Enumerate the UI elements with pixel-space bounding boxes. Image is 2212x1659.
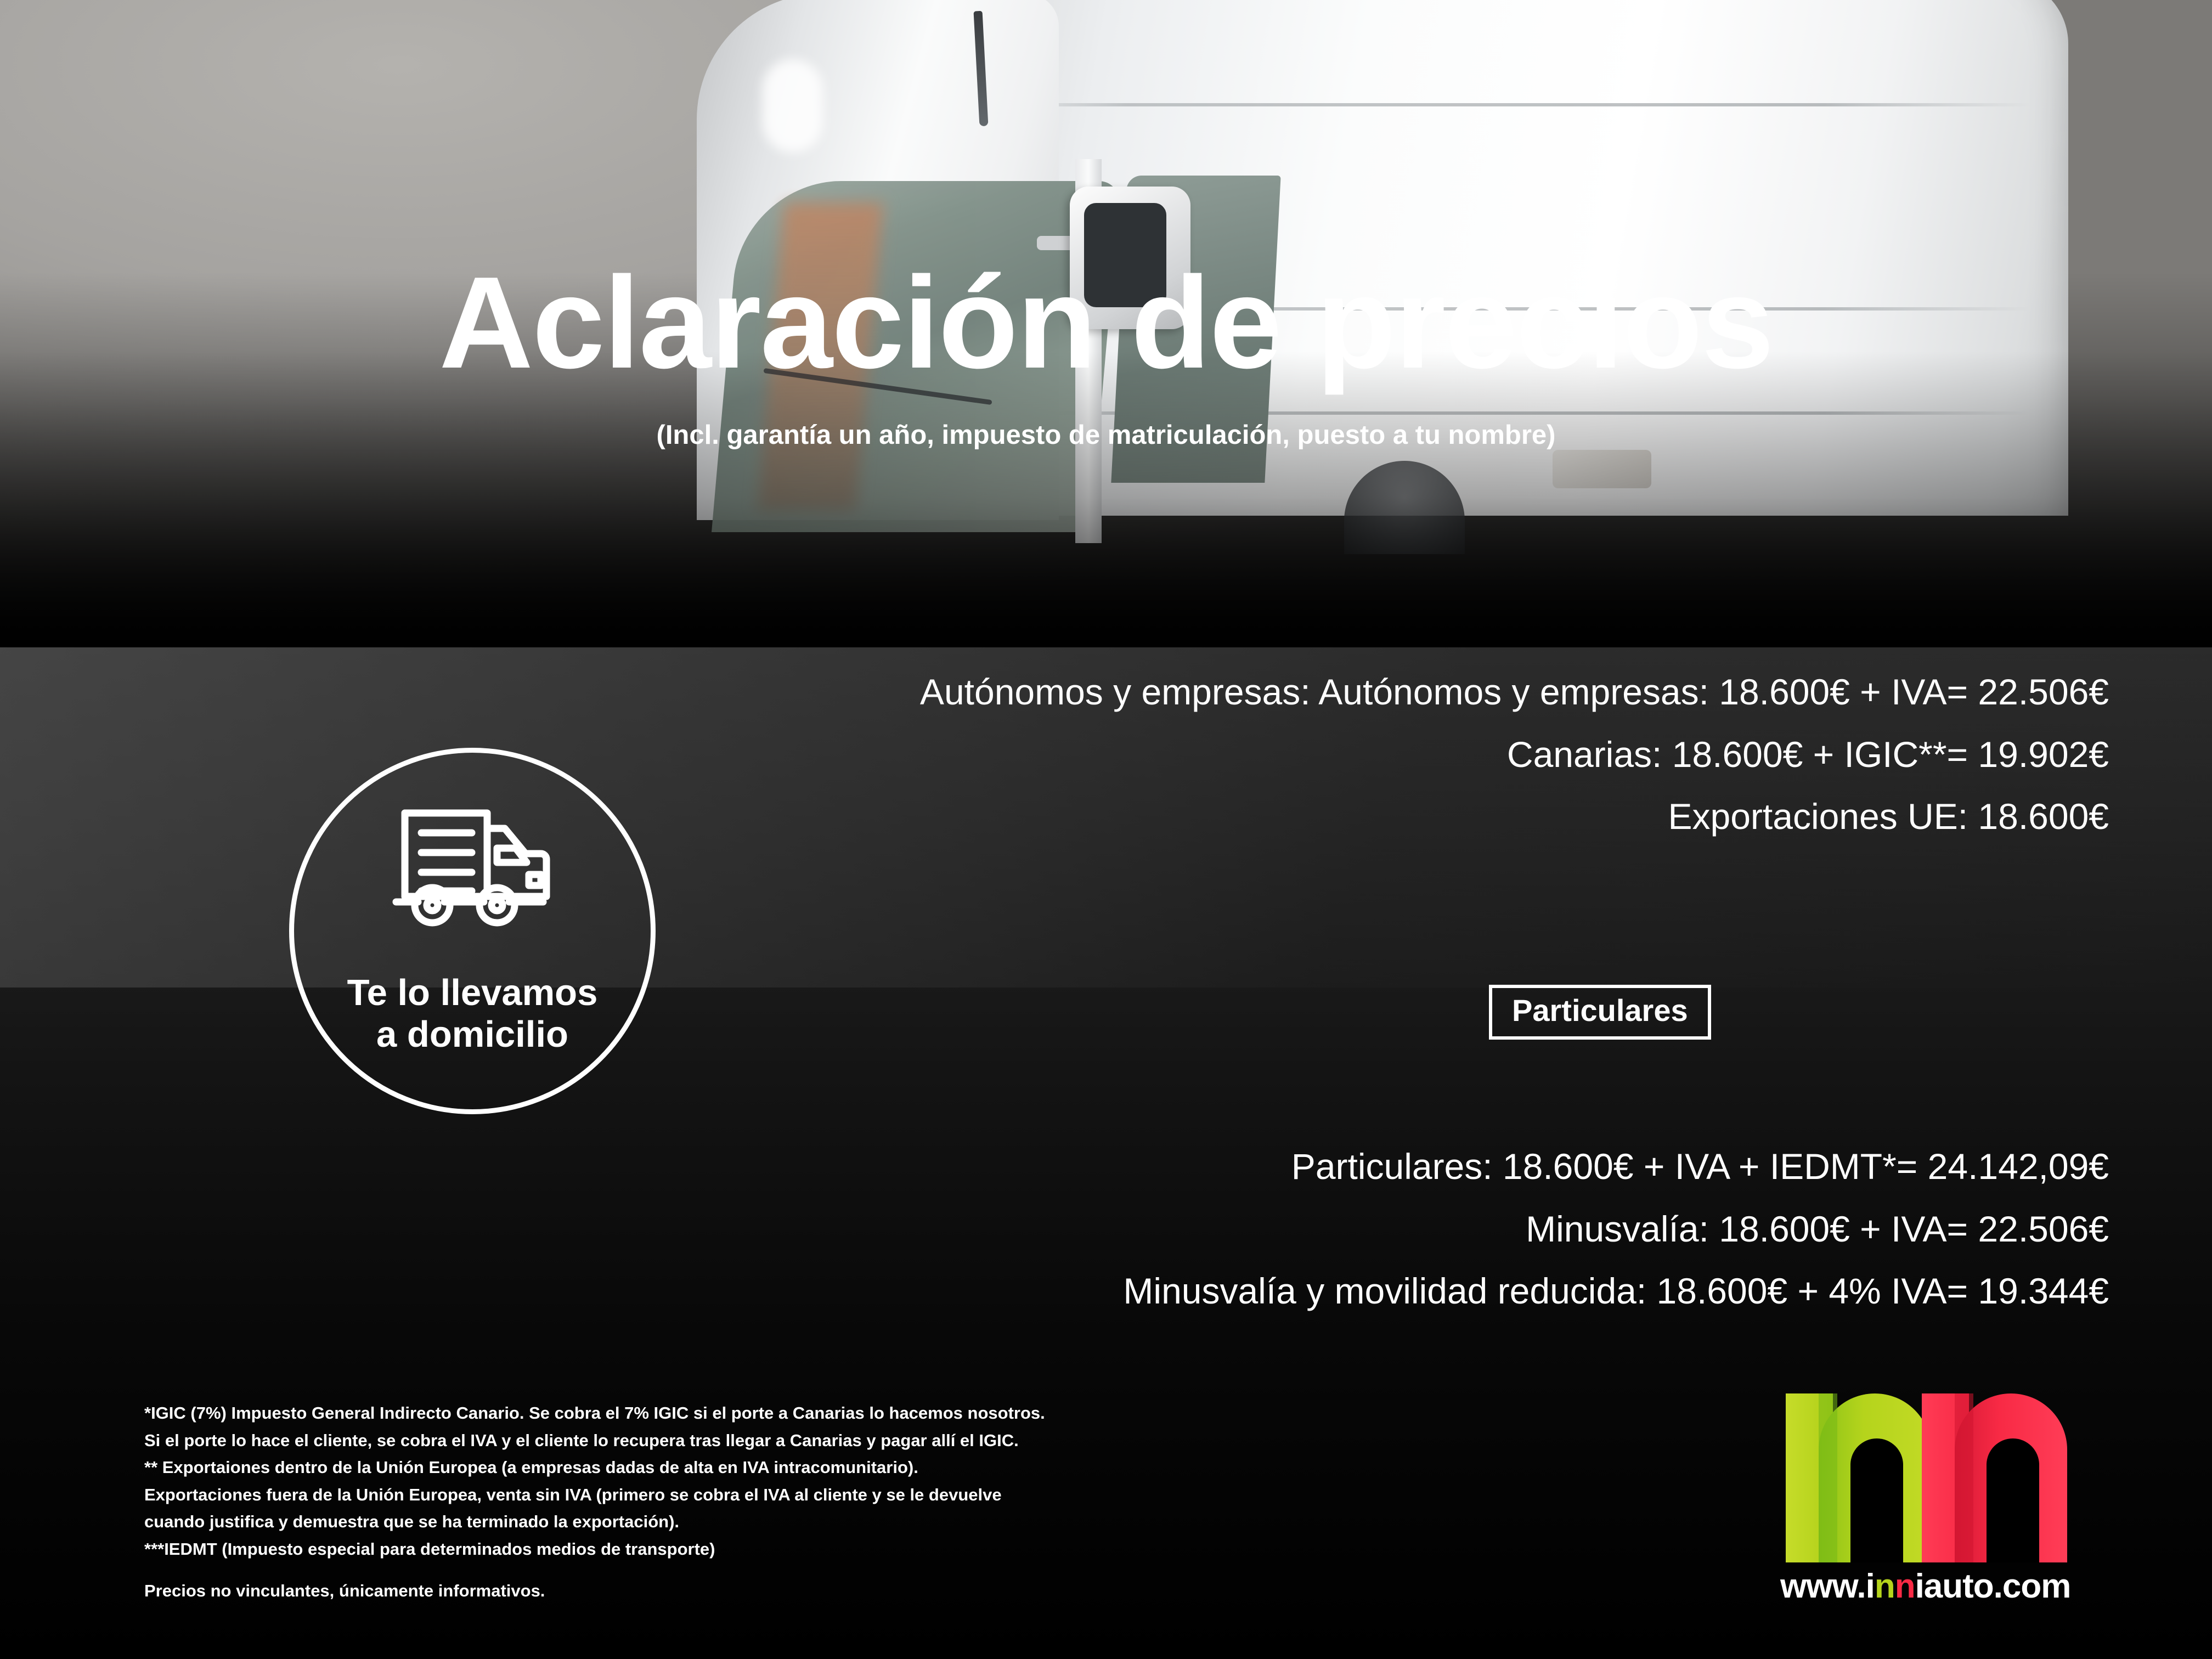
price-line-particulares: Particulares: 18.600€ + IVA + IEDMT*= 24… [1123, 1136, 2109, 1198]
logo-n-red-counter [1987, 1438, 2039, 1562]
footnote-line: Si el porte lo hace el cliente, se cobra… [144, 1427, 1045, 1454]
delivery-badge-text: Te lo llevamos a domicilio [294, 972, 651, 1055]
footnote-disclaimer: Precios no vinculantes, únicamente infor… [144, 1577, 1045, 1605]
footnote-line: Exportaciones fuera de la Unión Europea,… [144, 1481, 1045, 1509]
footnote-line: ***IEDMT (Impuesto especial para determi… [144, 1536, 1045, 1563]
footnote-line: *IGIC (7%) Impuesto General Indirecto Ca… [144, 1400, 1045, 1427]
logo-n-green [1786, 1393, 1939, 1562]
footnote-spacer [144, 1563, 1045, 1577]
logo-n-red [1922, 1393, 2075, 1562]
logo-n-green-counter [1850, 1438, 1903, 1562]
delivery-truck-icon [294, 800, 651, 937]
particulares-section-badge: Particulares [1489, 985, 1711, 1040]
price-line-minusvalia-movilidad: Minusvalía y movilidad reducida: 18.600€… [1123, 1260, 2109, 1323]
delivery-badge-line-1: Te lo llevamos [294, 972, 651, 1014]
home-delivery-badge: Te lo llevamos a domicilio [289, 748, 656, 1114]
logo-n-green-extrusion [1819, 1393, 1837, 1562]
private-price-block: Particulares: 18.600€ + IVA + IEDMT*= 24… [1123, 1136, 2109, 1323]
logo-url-prefix: www.i [1780, 1567, 1875, 1605]
logo-website-url[interactable]: www.inniauto.com [1780, 1567, 2131, 1606]
logo-url-suffix: iauto.com [1915, 1567, 2071, 1605]
footnote-line: cuando justifica y demuestra que se ha t… [144, 1508, 1045, 1536]
business-price-block: Autónomos y empresas: Autónomos y empres… [920, 661, 2109, 848]
price-line-minusvalia: Minusvalía: 18.600€ + IVA= 22.506€ [1123, 1198, 2109, 1261]
logo-url-n-red: n [1895, 1567, 1915, 1605]
price-clarification-poster: Aclaración de precios (Incl. garantía un… [0, 0, 2212, 1659]
footnote-line: ** Exportaiones dentro de la Unión Europ… [144, 1454, 1045, 1481]
logo-url-n-green: n [1875, 1567, 1895, 1605]
logo-n-red-extrusion [1955, 1393, 1973, 1562]
van-highlight [763, 59, 823, 153]
price-line-autonomos: Autónomos y empresas: Autónomos y empres… [920, 661, 2109, 724]
page-subtitle: (Incl. garantía un año, impuesto de matr… [0, 420, 2212, 450]
logo-nn-mark [1786, 1393, 2131, 1564]
price-line-canarias: Canarias: 18.600€ + IGIC**= 19.902€ [920, 724, 2109, 786]
van-panel-crease-top [1004, 103, 2030, 106]
page-title: Aclaración de precios [0, 258, 2212, 388]
delivery-badge-line-2: a domicilio [294, 1014, 651, 1056]
inniauto-logo[interactable]: www.inniauto.com [1780, 1393, 2131, 1606]
price-line-exportaciones: Exportaciones UE: 18.600€ [920, 786, 2109, 848]
footnotes-block: *IGIC (7%) Impuesto General Indirecto Ca… [144, 1400, 1045, 1604]
